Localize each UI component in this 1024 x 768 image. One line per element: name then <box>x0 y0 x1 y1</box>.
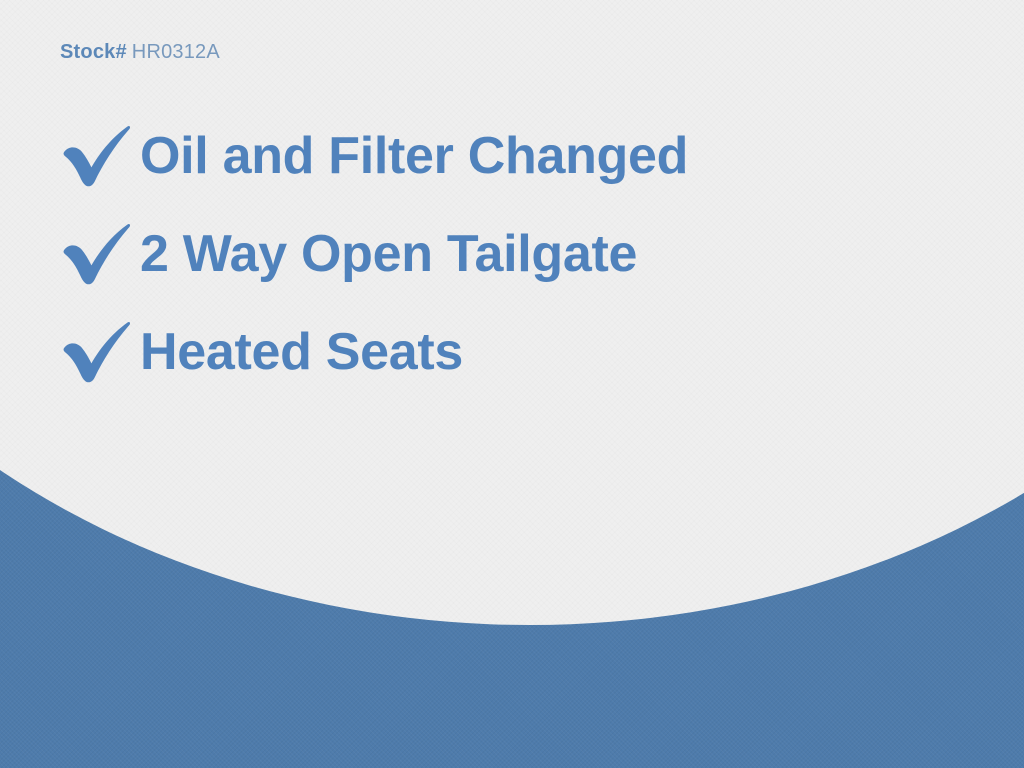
stock-number-line: Stock#HR0312A <box>60 41 220 64</box>
list-item: 2 Way Open Tailgate <box>52 216 688 290</box>
check-icon <box>52 118 138 192</box>
check-icon <box>52 216 138 290</box>
feature-label: Heated Seats <box>140 326 463 378</box>
slide-content: Stock#HR0312A Oil and Filter Changed 2 W… <box>0 0 1024 768</box>
stock-number-value: HR0312A <box>132 41 220 63</box>
stock-number-label: Stock# <box>60 41 127 63</box>
list-item: Oil and Filter Changed <box>52 118 688 192</box>
check-icon <box>52 314 138 388</box>
feature-label: 2 Way Open Tailgate <box>140 228 637 280</box>
list-item: Heated Seats <box>52 314 688 388</box>
feature-label: Oil and Filter Changed <box>140 130 688 182</box>
feature-list: Oil and Filter Changed 2 Way Open Tailga… <box>52 118 688 412</box>
slide-canvas: Stock#HR0312A Oil and Filter Changed 2 W… <box>0 0 1024 768</box>
